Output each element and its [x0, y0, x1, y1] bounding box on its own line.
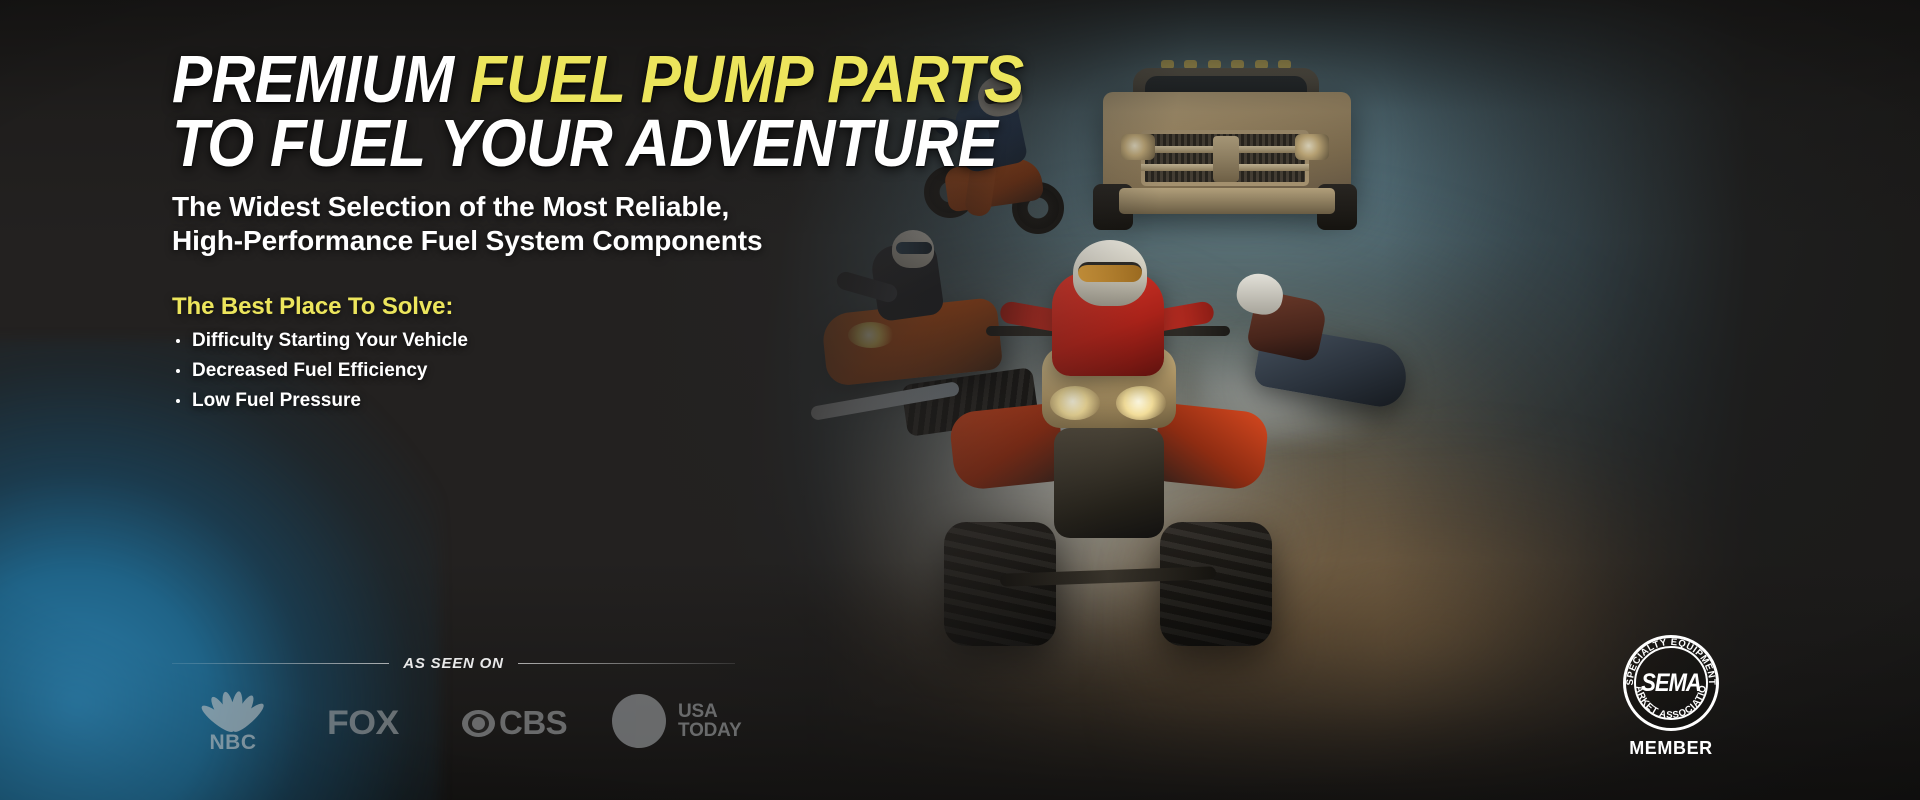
cbs-eye-icon — [462, 710, 495, 737]
bullet-dot-icon — [176, 339, 180, 343]
fox-logo-text: FOX — [327, 704, 399, 743]
sema-member-badge: SPECIALTY EQUIPMENT MARKET ASSOCIATION S… — [1606, 635, 1736, 770]
nbc-logo-text: NBC — [196, 731, 270, 755]
cbs-logo: CBS — [462, 704, 567, 742]
subheadline: The Widest Selection of the Most Reliabl… — [172, 190, 892, 259]
hero-banner: PREMIUM FUEL PUMP PARTS TO FUEL YOUR ADV… — [0, 0, 1920, 800]
as-seen-on-rule-right — [518, 663, 735, 664]
list-item-label: Decreased Fuel Efficiency — [192, 361, 428, 380]
list-item-label: Difficulty Starting Your Vehicle — [192, 331, 468, 350]
solve-bullet-list: Difficulty Starting Your Vehicle Decreas… — [172, 326, 468, 416]
fox-logo: FOX — [327, 704, 395, 743]
list-item: Decreased Fuel Efficiency — [172, 356, 468, 386]
solve-section-title: The Best Place To Solve: — [172, 293, 453, 321]
bullet-dot-icon — [176, 399, 180, 403]
press-logo-row: NBC FOX CBS USA TODAY — [172, 682, 772, 756]
as-seen-on-header: AS SEEN ON — [172, 655, 735, 672]
as-seen-on-rule-left — [172, 663, 389, 664]
subheadline-line-2: High-Performance Fuel System Components — [172, 224, 892, 258]
usa-today-logo: USA TODAY — [612, 694, 741, 748]
headline-line-2: TO FUEL YOUR ADVENTURE — [172, 112, 1072, 176]
usa-today-wordmark: USA TODAY — [678, 702, 741, 741]
subheadline-line-1: The Widest Selection of the Most Reliabl… — [172, 190, 892, 224]
sema-member-label: MEMBER — [1606, 738, 1736, 759]
banner-content: PREMIUM FUEL PUMP PARTS TO FUEL YOUR ADV… — [0, 0, 1920, 800]
usa-today-circle-icon — [612, 694, 666, 748]
bullet-dot-icon — [176, 369, 180, 373]
usa-today-line-1: USA — [678, 702, 741, 721]
nbc-peacock-icon — [196, 687, 270, 731]
cbs-logo-text: CBS — [499, 704, 567, 742]
nbc-logo: NBC — [196, 687, 270, 755]
as-seen-on-label: AS SEEN ON — [403, 655, 504, 672]
list-item-label: Low Fuel Pressure — [192, 391, 361, 410]
list-item: Difficulty Starting Your Vehicle — [172, 326, 468, 356]
headline: PREMIUM FUEL PUMP PARTS TO FUEL YOUR ADV… — [172, 48, 1172, 177]
headline-line-1: PREMIUM FUEL PUMP PARTS — [172, 48, 1072, 112]
usa-today-line-2: TODAY — [678, 721, 741, 740]
sema-wordmark: SEMA — [1641, 668, 1701, 698]
sema-wordmark-wrap: SEMA — [1640, 652, 1702, 714]
list-item: Low Fuel Pressure — [172, 386, 468, 416]
